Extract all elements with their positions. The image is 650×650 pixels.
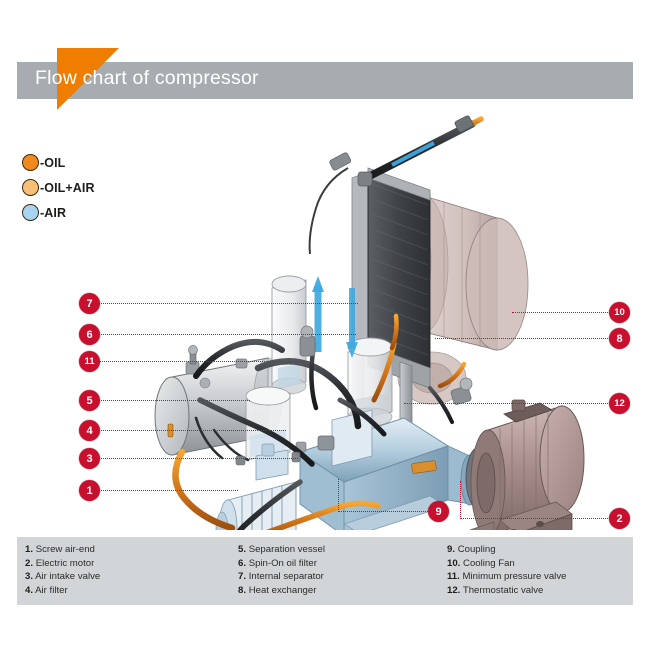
flow-legend-label: -OIL xyxy=(40,156,65,170)
parts-legend-label: Minimum pressure valve xyxy=(462,571,566,582)
parts-legend-label: Thermostatic valve xyxy=(463,585,544,596)
flow-legend: -OIL -OIL+AIR -AIR xyxy=(22,150,95,225)
parts-legend-number: 7. xyxy=(238,571,246,582)
parts-legend-item: 5. Separation vessel xyxy=(238,543,325,557)
parts-legend-number: 12. xyxy=(447,585,460,596)
diagram-page: Flow chart of compressor -OIL -OIL+AIR -… xyxy=(0,0,650,650)
parts-legend-label: Heat exchanger xyxy=(249,585,317,596)
leader-line-10 xyxy=(512,312,610,313)
callout-2[interactable]: 2 xyxy=(609,508,630,529)
parts-legend-number: 1. xyxy=(25,544,33,555)
leader-line-11 xyxy=(98,361,313,362)
parts-legend-label: Air filter xyxy=(35,585,68,596)
parts-legend-item: 2. Electric motor xyxy=(25,557,100,571)
parts-legend-number: 2. xyxy=(25,558,33,569)
parts-legend-number: 11. xyxy=(447,571,460,582)
parts-legend-label: Screw air-end xyxy=(36,544,95,555)
leader-line-2-riser xyxy=(460,481,461,519)
leader-line-2 xyxy=(460,518,610,519)
parts-legend-label: Coupling xyxy=(458,544,496,555)
leader-line-9-riser xyxy=(338,479,339,512)
leader-line-3 xyxy=(98,458,298,459)
oil-dot-icon xyxy=(22,154,39,171)
callout-1[interactable]: 1 xyxy=(79,480,100,501)
parts-legend-item: 11. Minimum pressure valve xyxy=(447,570,566,584)
parts-legend-item: 10. Cooling Fan xyxy=(447,557,566,571)
parts-legend-number: 4. xyxy=(25,585,33,596)
leader-line-9 xyxy=(338,511,428,512)
leader-line-4 xyxy=(98,430,286,431)
minimum-pressure-valve xyxy=(300,326,315,356)
compressor-illustration xyxy=(0,100,650,530)
parts-legend-item: 9. Coupling xyxy=(447,543,566,557)
parts-legend-label: Air intake valve xyxy=(35,571,100,582)
parts-legend-item: 7. Internal separator xyxy=(238,570,325,584)
flow-legend-label: -OIL+AIR xyxy=(40,181,95,195)
callout-3[interactable]: 3 xyxy=(79,448,100,469)
parts-legend-number: 5. xyxy=(238,544,246,555)
page-title: Flow chart of compressor xyxy=(35,67,259,90)
parts-legend-number: 10. xyxy=(447,558,460,569)
leader-line-5 xyxy=(98,400,250,401)
parts-legend-item: 6. Spin-On oil filter xyxy=(238,557,325,571)
parts-legend-item: 3. Air intake valve xyxy=(25,570,100,584)
leader-line-7 xyxy=(98,303,358,304)
callout-4[interactable]: 4 xyxy=(79,420,100,441)
callout-12[interactable]: 12 xyxy=(609,393,630,414)
parts-legend-column-1: 1. Screw air-end 2. Electric motor 3. Ai… xyxy=(25,543,100,597)
internal-separator xyxy=(272,276,306,394)
parts-legend-label: Electric motor xyxy=(36,558,95,569)
callout-9[interactable]: 9 xyxy=(428,501,449,522)
callout-7[interactable]: 7 xyxy=(79,293,100,314)
oil-air-dot-icon xyxy=(22,179,39,196)
air-dot-icon xyxy=(22,204,39,221)
callout-8[interactable]: 8 xyxy=(609,328,630,349)
callout-11[interactable]: 11 xyxy=(79,351,100,372)
air-flow-arrows xyxy=(312,276,358,358)
flow-legend-item-air: -AIR xyxy=(22,200,95,225)
leader-line-12 xyxy=(404,403,610,404)
leader-line-1 xyxy=(98,490,238,491)
parts-legend-number: 9. xyxy=(447,544,455,555)
parts-legend-label: Internal separator xyxy=(249,571,324,582)
parts-legend-column-3: 9. Coupling 10. Cooling Fan 11. Minimum … xyxy=(447,543,566,597)
leader-line-6 xyxy=(98,334,356,335)
parts-legend-number: 3. xyxy=(25,571,33,582)
parts-legend-item: 8. Heat exchanger xyxy=(238,584,325,598)
parts-legend-column-2: 5. Separation vessel 6. Spin-On oil filt… xyxy=(238,543,325,597)
parts-legend-number: 8. xyxy=(238,585,246,596)
parts-legend-item: 12. Thermostatic valve xyxy=(447,584,566,598)
callout-6[interactable]: 6 xyxy=(79,324,100,345)
flow-legend-label: -AIR xyxy=(40,206,66,220)
parts-legend-label: Spin-On oil filter xyxy=(249,558,317,569)
callout-5[interactable]: 5 xyxy=(79,390,100,411)
parts-legend-label: Separation vessel xyxy=(249,544,325,555)
parts-legend-label: Cooling Fan xyxy=(463,558,515,569)
parts-legend-item: 1. Screw air-end xyxy=(25,543,100,557)
flow-legend-item-oil-air: -OIL+AIR xyxy=(22,175,95,200)
flow-legend-item-oil: -OIL xyxy=(22,150,95,175)
parts-legend-item: 4. Air filter xyxy=(25,584,100,598)
leader-line-8 xyxy=(435,338,610,339)
parts-legend-number: 6. xyxy=(238,558,246,569)
callout-10[interactable]: 10 xyxy=(609,302,630,323)
electric-motor xyxy=(470,400,584,530)
